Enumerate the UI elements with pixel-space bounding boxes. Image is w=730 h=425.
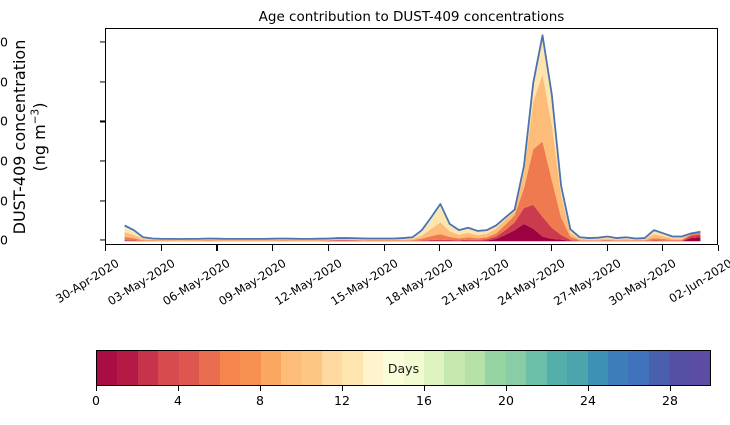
colorbar-tick-label: 24 [580,393,596,408]
y-axis-label-units: (ng m−3) [30,103,49,172]
colorbar-tick-label: 28 [662,393,678,408]
colorbar-band [363,351,383,385]
colorbar-band [179,351,199,385]
colorbar-band [117,351,137,385]
colorbar-band [301,351,321,385]
colorbar-tick-mark [670,386,671,391]
colorbar-tick-mark [424,386,425,391]
y-axis-tick-label: 0 [0,233,8,248]
colorbar-band [547,351,567,385]
colorbar-band [608,351,628,385]
total-concentration-line [125,35,701,239]
colorbar-band [465,351,485,385]
colorbar-tick-label: 4 [174,393,182,408]
colorbar-band [690,351,710,385]
colorbar-band [444,351,464,385]
colorbar-band [628,351,648,385]
figure-canvas: Age contribution to DUST-409 concentrati… [0,0,730,425]
colorbar-band [383,351,403,385]
colorbar-band [281,351,301,385]
area-band [125,205,701,241]
colorbar-band [322,351,342,385]
colorbar-band [485,351,505,385]
chart-title: Age contribution to DUST-409 concentrati… [105,9,718,25]
colorbar-band [342,351,362,385]
colorbar-tick-label: 8 [256,393,264,408]
area-band [125,141,701,241]
x-axis-tick-mark [272,245,273,251]
y-axis-tick-label: 200 [0,74,8,89]
y-axis-tick-label: 150 [0,114,8,129]
colorbar-band [526,351,546,385]
area-band [125,39,701,241]
colorbar-tick-mark [506,386,507,391]
colorbar-band [240,351,260,385]
colorbar-band [649,351,669,385]
area-band [125,36,701,240]
colorbar-band [158,351,178,385]
colorbar-band [506,351,526,385]
colorbar-band [138,351,158,385]
x-axis-tick-mark [718,245,719,251]
colorbar-tick-mark [588,386,589,391]
colorbar-tick-label: 0 [92,393,100,408]
colorbar-tick-mark [96,386,97,391]
x-axis-tick-mark [662,245,663,251]
colorbar-band [97,351,117,385]
colorbar-band [424,351,444,385]
colorbar-band [669,351,689,385]
x-axis-tick-mark [216,245,217,251]
x-axis-tick-mark [105,245,106,251]
x-axis-tick-mark [439,245,440,251]
colorbar-band [220,351,240,385]
colorbar-band [199,351,219,385]
colorbar-tick-mark [342,386,343,391]
y-axis-label-line1: DUST-409 concentration [10,40,29,235]
area-band [125,36,701,239]
y-axis-tick-label: 100 [0,154,8,169]
colorbar-tick-mark [260,386,261,391]
x-axis-tick-mark [328,245,329,251]
colorbar-band [567,351,587,385]
colorbar-band [261,351,281,385]
x-axis-tick-mark [161,245,162,251]
plot-clip [106,29,717,244]
colorbar-band [404,351,424,385]
colorbar-tick-label: 12 [334,393,350,408]
area-band [125,74,701,241]
colorbar-tick-mark [178,386,179,391]
x-axis-tick-mark [607,245,608,251]
x-axis-tick-mark [495,245,496,251]
x-axis-tick-mark [551,245,552,251]
y-axis-tick-label: 250 [0,35,8,50]
plot-area [105,28,718,245]
x-axis-tick-mark [384,245,385,251]
colorbar[interactable] [96,350,711,386]
colorbar-tick-label: 16 [416,393,432,408]
area-band [125,35,701,239]
y-axis-tick-label: 50 [0,193,8,208]
colorbar-band [588,351,608,385]
colorbar-tick-label: 20 [498,393,514,408]
stacked-area-plot [106,29,717,244]
